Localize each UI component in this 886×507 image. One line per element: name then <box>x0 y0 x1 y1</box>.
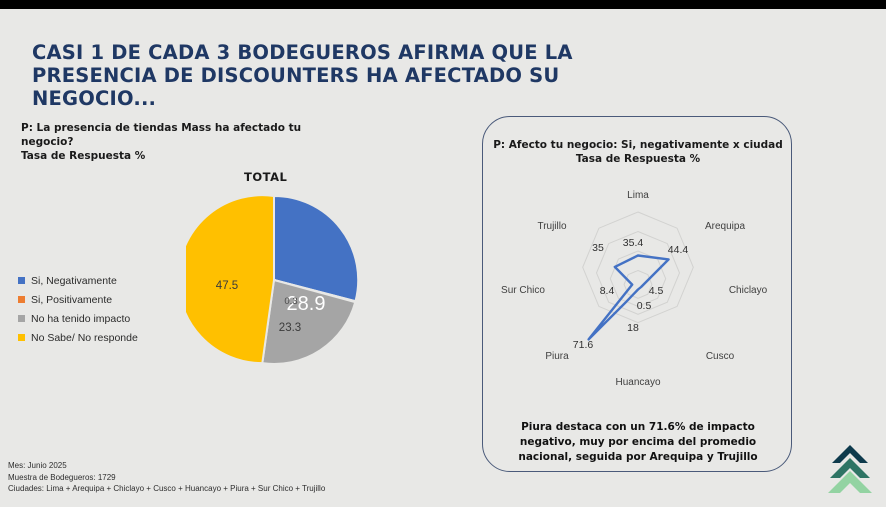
chevron-stack-logo-icon <box>822 443 878 495</box>
pie-chart-svg: 28.9 0.3 23.3 47.5 <box>186 192 362 368</box>
pie-value-no-sabe-no-responde: 47.5 <box>216 280 238 292</box>
footer-line-muestra: Muestra de Bodegueros: 1729 <box>8 472 428 484</box>
radar-value-chiclayo: 4.5 <box>649 285 664 297</box>
pie-chart-caption: TOTAL <box>244 170 287 184</box>
radar-panel-insight-note: Piura destaca con un 71.6% de impacto ne… <box>492 420 784 465</box>
legend-label: No ha tenido impacto <box>31 313 130 325</box>
radar-axis-label-cusco: Cusco <box>706 351 735 362</box>
pie-value-no-ha-tenido-impacto: 23.3 <box>279 322 301 334</box>
pie-chart: 28.9 0.3 23.3 47.5 <box>186 192 362 368</box>
footer-line-ciudades: Ciudades: Lima + Arequipa + Chiclayo + C… <box>8 483 428 495</box>
radar-chart-svg: Lima Arequipa Chiclayo Cusco Huancayo Pi… <box>492 176 784 404</box>
pie-value-si-positivamente: 0.3 <box>284 296 297 307</box>
radar-value-arequipa: 44.4 <box>668 244 689 256</box>
legend-swatch-icon <box>18 334 25 341</box>
radar-axis-label-sur-chico: Sur Chico <box>501 285 545 296</box>
page-title: CASI 1 DE CADA 3 BODEGUEROS AFIRMA QUE L… <box>32 41 672 110</box>
radar-value-lima: 35.4 <box>623 237 644 249</box>
footer-line-mes: Mes: Junio 2025 <box>8 460 428 472</box>
slide-canvas: CASI 1 DE CADA 3 BODEGUEROS AFIRMA QUE L… <box>0 0 886 507</box>
legend-swatch-icon <box>18 277 25 284</box>
top-black-bar <box>0 0 886 9</box>
radar-axis-label-piura: Piura <box>545 351 569 362</box>
legend-item-si-positivamente[interactable]: Si, Positivamente <box>18 290 183 309</box>
legend-item-no-ha-tenido-impacto[interactable]: No ha tenido impacto <box>18 309 183 328</box>
legend-label: No Sabe/ No responde <box>31 332 138 344</box>
radar-value-piura: 71.6 <box>573 339 594 351</box>
radar-chart: Lima Arequipa Chiclayo Cusco Huancayo Pi… <box>492 176 784 404</box>
legend-swatch-icon <box>18 296 25 303</box>
radar-value-sur-chico: 8.4 <box>600 285 615 297</box>
legend-item-si-negativamente[interactable]: Si, Negativamente <box>18 271 183 290</box>
footer-notes: Mes: Junio 2025 Muestra de Bodegueros: 1… <box>8 460 428 495</box>
left-question-text: P: La presencia de tiendas Mass ha afect… <box>21 121 351 163</box>
legend-swatch-icon <box>18 315 25 322</box>
radar-value-trujillo: 35 <box>592 242 604 254</box>
radar-axis-label-trujillo: Trujillo <box>537 221 567 232</box>
radar-axis-label-lima: Lima <box>627 190 649 201</box>
legend-label: Si, Positivamente <box>31 294 112 306</box>
pie-legend: Si, Negativamente Si, Positivamente No h… <box>18 271 183 347</box>
legend-item-no-sabe-no-responde[interactable]: No Sabe/ No responde <box>18 328 183 347</box>
legend-label: Si, Negativamente <box>31 275 117 287</box>
radar-axis-label-chiclayo: Chiclayo <box>729 285 768 296</box>
radar-axis-label-arequipa: Arequipa <box>705 221 745 232</box>
radar-value-cusco: 0.5 <box>637 300 652 312</box>
chevron-stack-logo <box>822 443 878 495</box>
radar-panel-title: P: Afecto tu negocio: Si, negativamente … <box>492 138 784 166</box>
radar-axis-label-huancayo: Huancayo <box>615 377 660 388</box>
radar-value-huancayo: 18 <box>627 322 639 334</box>
